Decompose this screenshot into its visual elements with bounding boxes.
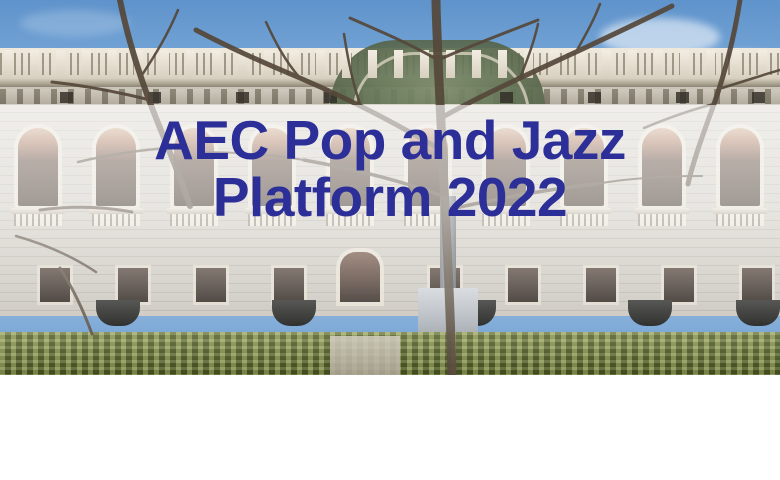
attic-window xyxy=(236,92,249,103)
balustrade-post xyxy=(654,50,663,78)
balustrade-post xyxy=(420,50,429,78)
balustrade-post xyxy=(108,50,117,78)
attic-window xyxy=(60,92,73,103)
balustrade-post xyxy=(238,50,247,78)
attic-window xyxy=(148,92,161,103)
balustrade-post xyxy=(368,50,377,78)
balustrade-post xyxy=(576,50,585,78)
poster: (function(){ var ph = document.querySele… xyxy=(0,0,780,480)
balustrade-post xyxy=(394,50,403,78)
logo-footer: (function(){ var f=document.currentScrip… xyxy=(0,375,780,480)
balustrade-post xyxy=(680,50,689,78)
page-title: AEC Pop and Jazz Platform 2022 xyxy=(0,112,780,225)
balustrade-post xyxy=(82,50,91,78)
balustrade-post xyxy=(56,50,65,78)
balustrade-post xyxy=(316,50,325,78)
balustrade-post xyxy=(628,50,637,78)
balustrade-post xyxy=(550,50,559,78)
balustrade-post xyxy=(524,50,533,78)
title-line-2: Platform 2022 xyxy=(0,169,780,226)
hero-photo: (function(){ var ph = document.querySele… xyxy=(0,0,780,375)
cloud xyxy=(20,10,130,36)
balustrade-post xyxy=(290,50,299,78)
balustrade-post xyxy=(498,50,507,78)
title-line-1: AEC Pop and Jazz xyxy=(154,109,626,171)
balustrade-post xyxy=(4,50,13,78)
balustrade-post xyxy=(342,50,351,78)
attic-window xyxy=(588,92,601,103)
balustrade-post xyxy=(134,50,143,78)
balustrade-post xyxy=(264,50,273,78)
balustrade-post xyxy=(212,50,221,78)
balustrade-post xyxy=(706,50,715,78)
balustrade-post xyxy=(30,50,39,78)
balustrade-post xyxy=(472,50,481,78)
balustrade-post xyxy=(186,50,195,78)
balustrade-post xyxy=(602,50,611,78)
attic-window xyxy=(324,92,337,103)
balustrade-post xyxy=(758,50,767,78)
attic-window xyxy=(500,92,513,103)
balustrade-post xyxy=(446,50,455,78)
attic-window xyxy=(752,92,765,103)
attic-window xyxy=(676,92,689,103)
balustrade-post xyxy=(732,50,741,78)
balustrade-post xyxy=(160,50,169,78)
